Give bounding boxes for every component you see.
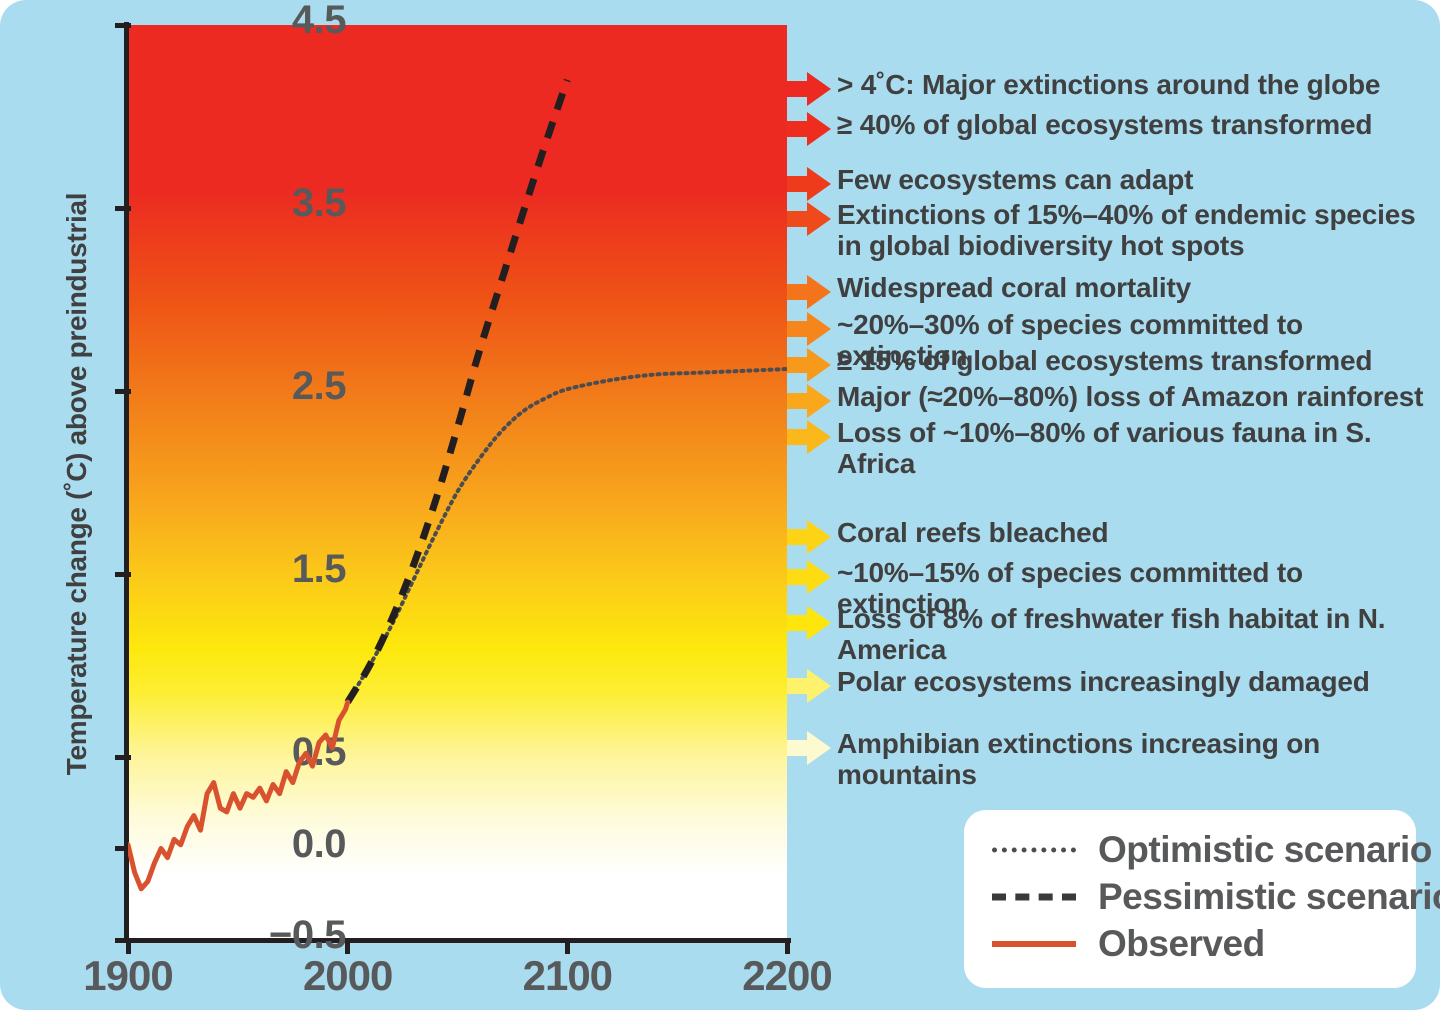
plot-gradient-background <box>128 25 787 940</box>
y-tick-label: 2.5 <box>292 364 346 409</box>
impact-annotation-label: Polar ecosystems increasingly damaged <box>833 666 1370 697</box>
arrow-right-icon <box>787 669 833 703</box>
impact-annotation: > 4˚C: Major extinctions around the glob… <box>787 70 1380 106</box>
impact-annotation: Major (≈20%–80%) loss of Amazon rainfore… <box>787 382 1423 418</box>
impact-annotation: Loss of 8% of freshwater fish habitat in… <box>787 604 1440 666</box>
impact-annotation-label: ≥ 40% of global ecosystems transformed <box>833 109 1372 140</box>
arrow-right-icon <box>787 72 833 106</box>
legend-box: Optimistic scenarioPessimistic scenarioO… <box>964 810 1416 988</box>
impact-annotation: Polar ecosystems increasingly damaged <box>787 667 1370 703</box>
climate-impacts-figure: 4.53.52.51.50.50.0−0.5 1900200021002200 … <box>0 0 1440 1010</box>
impact-annotation-label: Extinctions of 15%–40% of endemic specie… <box>833 199 1415 262</box>
impact-annotation: Amphibian extinctions increasing on moun… <box>787 729 1440 791</box>
legend-item-dashed: Pessimistic scenario <box>992 877 1440 917</box>
y-tick-mark <box>115 206 131 211</box>
legend-line-sample <box>992 887 1076 907</box>
y-axis-label: Temperature change (˚C) above preindustr… <box>61 174 93 794</box>
x-axis-line <box>124 938 791 943</box>
y-tick-label: 1.5 <box>292 547 346 592</box>
impact-annotation: ≥ 40% of global ecosystems transformed <box>787 110 1372 146</box>
legend-item-label: Pessimistic scenario <box>1098 876 1440 918</box>
x-tick-label: 2000 <box>303 952 392 1000</box>
legend-item-dotted: Optimistic scenario <box>992 830 1432 870</box>
impact-annotation-label: Widespread coral mortality <box>833 272 1191 303</box>
legend-line-sample <box>992 840 1076 860</box>
impact-annotation-label: Few ecosystems can adapt <box>833 164 1193 195</box>
arrow-right-icon <box>787 112 833 146</box>
x-tick-label: 2100 <box>523 952 612 1000</box>
arrow-right-icon <box>787 275 833 309</box>
legend-item-label: Optimistic scenario <box>1098 829 1432 871</box>
y-tick-mark <box>115 846 131 851</box>
legend-line-sample <box>992 934 1076 954</box>
arrow-right-icon <box>787 606 833 640</box>
impact-annotation: Coral reefs bleached <box>787 518 1108 554</box>
impact-annotations-list: > 4˚C: Major extinctions around the glob… <box>787 0 1440 800</box>
y-tick-label: 3.5 <box>292 181 346 226</box>
arrow-right-icon <box>787 384 833 418</box>
y-axis-line <box>124 22 129 943</box>
impact-annotation-label: > 4˚C: Major extinctions around the glob… <box>833 69 1380 100</box>
y-tick-label: 0.5 <box>292 730 346 775</box>
arrow-right-icon <box>787 348 833 382</box>
x-tick-label: 1900 <box>83 952 172 1000</box>
legend-item-solid: Observed <box>992 924 1265 964</box>
impact-annotation: Few ecosystems can adapt <box>787 165 1193 201</box>
x-tick-label: 2200 <box>742 952 831 1000</box>
impact-annotation-label: Amphibian extinctions increasing on moun… <box>833 728 1440 791</box>
legend-item-label: Observed <box>1098 923 1265 965</box>
y-tick-mark <box>115 572 131 577</box>
impact-annotation-label: Major (≈20%–80%) loss of Amazon rainfore… <box>833 381 1423 412</box>
impact-annotation-label: Loss of ~10%–80% of various fauna in S. … <box>833 417 1440 480</box>
impact-annotation-label: Loss of 8% of freshwater fish habitat in… <box>833 603 1440 666</box>
y-tick-label: 0.0 <box>292 822 346 867</box>
impact-annotation: Widespread coral mortality <box>787 273 1191 309</box>
y-tick-label: 4.5 <box>292 0 346 43</box>
y-tick-mark <box>115 389 131 394</box>
impact-annotation: Loss of ~10%–80% of various fauna in S. … <box>787 418 1440 480</box>
arrow-right-icon <box>787 420 833 454</box>
impact-annotation-label: Coral reefs bleached <box>833 517 1108 548</box>
arrow-right-icon <box>787 202 833 236</box>
y-tick-mark <box>115 23 131 28</box>
arrow-right-icon <box>787 560 833 594</box>
arrow-right-icon <box>787 167 833 201</box>
arrow-right-icon <box>787 731 833 765</box>
impact-annotation: Extinctions of 15%–40% of endemic specie… <box>787 200 1415 262</box>
arrow-right-icon <box>787 312 833 346</box>
arrow-right-icon <box>787 520 833 554</box>
impact-annotation-label: ≥ 15% of global ecosystems transformed <box>833 345 1372 376</box>
impact-annotation: ≥ 15% of global ecosystems transformed <box>787 346 1372 382</box>
y-tick-mark <box>115 755 131 760</box>
